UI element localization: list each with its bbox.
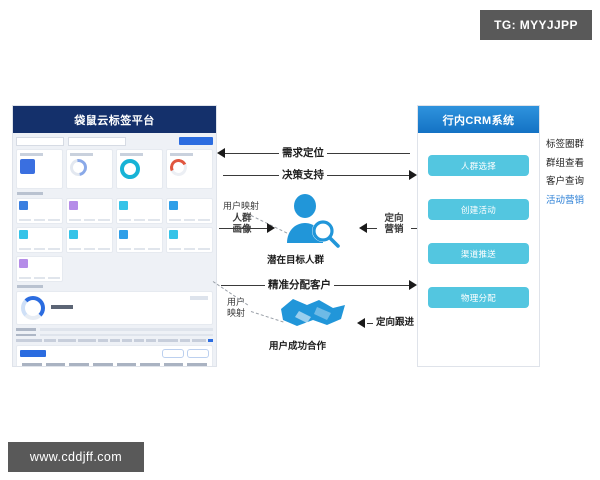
feature-tag-grouping[interactable]: 标签圈群	[546, 140, 598, 150]
tag-card[interactable]	[166, 227, 213, 253]
flow-label-targeted-marketing: 定向 营销	[377, 213, 411, 235]
card-icon	[69, 230, 78, 239]
arrowhead-right-precise-allocation	[409, 280, 417, 290]
section-label	[17, 192, 43, 195]
filter-select-1[interactable]	[16, 137, 64, 146]
flow-label-precise-allocation: 精准分配客户	[265, 279, 334, 291]
tag-card[interactable]	[116, 198, 163, 224]
feature-group-view[interactable]: 群组查看	[546, 159, 598, 169]
card-icon	[19, 201, 28, 210]
meta-row	[16, 328, 213, 331]
flow-label-persona: 人群 画像	[225, 213, 259, 235]
crm-button-physical-allocation[interactable]: 物理分配	[428, 287, 529, 308]
crm-button-list: 人群选择 创建活动 渠道推送 物理分配	[418, 133, 539, 308]
table-secondary-button[interactable]	[162, 349, 184, 358]
tag-card-grid-last-row	[16, 256, 213, 282]
tag-card[interactable]	[66, 227, 113, 253]
feature-campaign-marketing[interactable]: 活动营销	[546, 196, 598, 206]
tag-card[interactable]	[116, 227, 163, 253]
crm-button-channel-push[interactable]: 渠道推送	[428, 243, 529, 264]
donut-chart	[21, 296, 45, 320]
website-watermark: www.cddjff.com	[8, 442, 144, 472]
card-icon	[19, 259, 28, 268]
card-icon	[119, 201, 128, 210]
diagram-canvas: TG: MYYJJPP www.cddjff.com 袋鼠云标签平台	[0, 0, 600, 480]
customer-table	[20, 361, 209, 367]
chart-summary	[51, 305, 208, 312]
mapping-note-top: 用户映射	[223, 201, 259, 212]
arrowhead-left-targeted-marketing	[359, 223, 367, 233]
card-icon	[19, 230, 28, 239]
kpi-card[interactable]	[66, 149, 113, 189]
toolbar-primary-button[interactable]	[179, 137, 213, 145]
customer-table-card[interactable]	[16, 345, 213, 367]
meta-row	[16, 334, 213, 337]
card-icon	[169, 230, 178, 239]
handshake-caption: 用户成功合作	[269, 338, 326, 352]
crm-title: 行内CRM系统	[418, 106, 539, 133]
table-export-button[interactable]	[187, 349, 209, 358]
target-audience-caption: 潜在目标人群	[267, 252, 324, 266]
arrowhead-left-demand	[217, 148, 225, 158]
flow-label-decision: 决策支持	[279, 169, 327, 181]
dashboard-toolbar[interactable]	[16, 136, 213, 146]
filter-select-2[interactable]	[68, 137, 126, 146]
tag-card[interactable]	[16, 227, 63, 253]
gauge-icon	[67, 156, 91, 180]
crm-button-audience-select[interactable]: 人群选择	[428, 155, 529, 176]
arrowhead-right-decision	[409, 170, 417, 180]
table-primary-button[interactable]	[20, 350, 46, 357]
distribution-chart-card	[16, 291, 213, 325]
chart-action-button[interactable]	[190, 296, 208, 300]
kpi-card-row	[16, 149, 213, 189]
card-icon	[119, 230, 128, 239]
filter-chip-row[interactable]	[16, 339, 213, 342]
flow-label-targeted-followup: 定向跟进	[373, 317, 417, 329]
kpi-card[interactable]	[16, 149, 63, 189]
telegram-watermark: TG: MYYJJPP	[480, 10, 592, 40]
tag-platform-dashboard	[13, 133, 216, 366]
card-icon	[69, 201, 78, 210]
kpi-card[interactable]	[166, 149, 213, 189]
tag-card[interactable]	[16, 256, 63, 282]
kpi-card[interactable]	[116, 149, 163, 189]
tag-card[interactable]	[166, 198, 213, 224]
tag-card[interactable]	[66, 198, 113, 224]
flow-label-demand: 需求定位	[279, 147, 327, 159]
target-audience-icon	[277, 193, 347, 249]
mapping-note-bottom: 用户 映射	[223, 297, 249, 319]
dial-icon	[168, 157, 190, 179]
arrowhead-right-persona	[267, 223, 275, 233]
feature-customer-query[interactable]: 客户查询	[546, 177, 598, 187]
handshake-icon	[277, 293, 349, 333]
tag-card-grid	[16, 198, 213, 253]
tag-platform-panel[interactable]: 袋鼠云标签平台	[12, 105, 217, 367]
tag-card[interactable]	[16, 198, 63, 224]
table-header-row	[20, 361, 209, 367]
tag-platform-title: 袋鼠云标签平台	[13, 106, 216, 133]
card-icon	[169, 201, 178, 210]
arrowhead-left-targeted-followup	[357, 318, 365, 328]
section-label	[17, 285, 43, 288]
center-flow-diagram: 需求定位 决策支持 用户映射 人群 画像 潜在目标人群	[217, 105, 417, 367]
donut-icon	[120, 159, 140, 179]
grid-icon	[20, 159, 35, 174]
crm-feature-list: 标签圈群 群组查看 客户查询 活动营销	[546, 140, 598, 205]
crm-button-create-campaign[interactable]: 创建活动	[428, 199, 529, 220]
crm-panel[interactable]: 行内CRM系统 人群选择 创建活动 渠道推送 物理分配	[417, 105, 540, 367]
